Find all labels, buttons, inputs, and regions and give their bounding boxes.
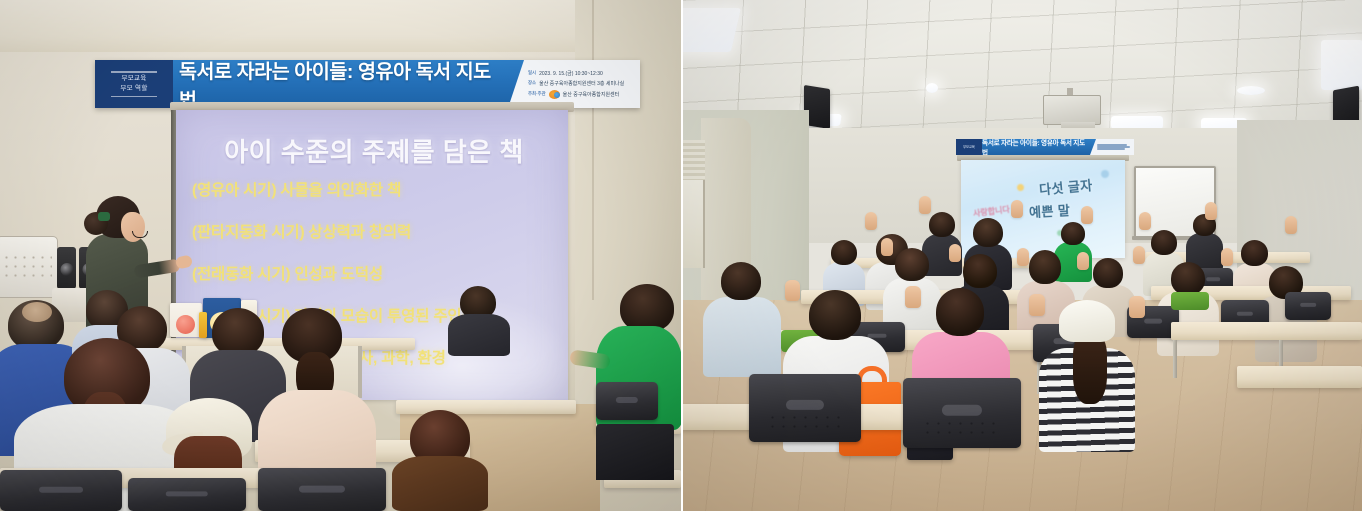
speaker-icon-left (57, 247, 76, 289)
photo-collage: 부모교육 부모 역할 독서로 자라는 아이들: 영유아 독서 지도법 일시 20… (0, 0, 1362, 511)
window-blind (681, 140, 705, 180)
collage-divider (681, 0, 683, 511)
banner-info-row-date: 일시 2023. 9. 15.(금) 10:30~12:30 (528, 70, 635, 77)
chair-perforation (922, 419, 1002, 440)
av-cabinet-perforation (2, 253, 52, 279)
banner-info-row-place: 장소 울산 중구육아종합지원센터 3층 세미나실 (528, 80, 635, 87)
raised-hand (1285, 216, 1297, 234)
chair-handle-slot (616, 397, 638, 403)
raised-hand (1081, 206, 1093, 224)
ceiling-light-panel (1321, 40, 1362, 90)
av-cabinet (0, 236, 58, 298)
chair-back (128, 478, 246, 511)
raised-hand (1077, 252, 1089, 270)
ceiling-light-panel (681, 8, 741, 52)
attendee-brown-top (392, 456, 488, 511)
raised-hand (1011, 200, 1023, 218)
attendee-head (895, 248, 929, 281)
ceiling-downlight (1237, 86, 1265, 95)
right-photo-classroom: 부모교육 독서로 자라는 아이들: 영유아 독서 지도법 다섯 글자 예쁜 말 … (681, 0, 1362, 511)
slide-title: 아이 수준의 주제를 담은 책 (190, 132, 558, 169)
raised-hand (905, 286, 921, 308)
attendee-scalp (22, 302, 52, 322)
chair-handle-slot (1237, 312, 1253, 317)
chair-handle-slot (39, 486, 83, 493)
chair-perforation (767, 413, 843, 433)
speaker-cone (60, 263, 73, 276)
picture-book-apple (170, 303, 202, 337)
banner-title-small: 독서로 자라는 아이들: 영유아 독서 지도법 (982, 139, 1090, 155)
chair-back (596, 382, 658, 420)
banner-badge: 부모교육 부모 역할 (95, 60, 173, 108)
banner-badge-line-1: 부모교육 (121, 75, 146, 83)
attendee-torso (448, 314, 510, 356)
desk-row-mid (396, 400, 576, 414)
wall-seam-line (592, 0, 594, 300)
banner-info-line (1097, 148, 1125, 150)
attendee-head (973, 218, 1003, 247)
chair-back (258, 468, 386, 511)
raised-hand (1029, 294, 1045, 316)
presenter-hair-tie (98, 212, 110, 221)
attendee-ponytail (1073, 334, 1107, 404)
attendee-lap (596, 424, 674, 480)
chair-handle-slot (1300, 303, 1316, 307)
ceiling-projector (1043, 95, 1101, 125)
chair-handle-slot (942, 405, 982, 416)
banner-info-value-place: 울산 중구육아종합지원센터 3층 세미나실 (539, 80, 624, 87)
raised-hand (1129, 296, 1145, 318)
attendee-light-blue-top (703, 297, 781, 377)
attendee-head (831, 240, 857, 265)
chair-handle-slot (1144, 318, 1162, 323)
desk-row-front-right (1171, 322, 1362, 340)
raised-hand (919, 196, 931, 214)
slide-bullet-3: (전래동화 시기) 인성과 도덕성 (192, 262, 564, 284)
headset-microphone-icon (132, 231, 148, 238)
event-banner-small: 부모교육 독서로 자라는 아이들: 영유아 독서 지도법 (956, 139, 1134, 155)
chair-handle-slot (299, 485, 345, 492)
banner-info-block: 일시 2023. 9. 15.(금) 10:30~12:30 장소 울산 중구육… (508, 60, 640, 108)
chair-back (1285, 292, 1331, 320)
attendee-head (1151, 230, 1177, 255)
slide-handwriting-line-2: 예쁜 말 (1029, 198, 1110, 221)
slide-bullet-1: (영유아 시기) 사물을 의인화한 책 (192, 178, 564, 200)
picture-book-spine (199, 312, 207, 338)
desk-leg (1173, 340, 1177, 378)
slide-decoration-dot (1017, 184, 1024, 191)
banner-info-row-host: 주최·주관 울산 중구육아종합지원센터 (528, 90, 635, 99)
attendee-head (620, 284, 674, 332)
attendee-head (963, 254, 997, 288)
chair-handle-slot (786, 400, 824, 410)
attendee-white-cap (1059, 300, 1115, 342)
banner-badge-small: 부모교육 (956, 139, 982, 155)
raised-hand (1205, 202, 1217, 220)
banner-badge-line-2: 부모 역할 (120, 85, 147, 93)
banner-info-value-host: 울산 중구육아종합지원센터 (563, 91, 620, 98)
slide-handwriting-accent: 사랑합니다 (972, 204, 1010, 219)
attendee-head (929, 212, 955, 237)
raised-hand (1133, 246, 1145, 264)
event-banner: 부모교육 부모 역할 독서로 자라는 아이들: 영유아 독서 지도법 일시 20… (95, 60, 640, 108)
left-photo-lecture-hall: 부모교육 부모 역할 독서로 자라는 아이들: 영유아 독서 지도법 일시 20… (0, 0, 681, 511)
raised-hand (1139, 212, 1151, 230)
attendee-head (212, 308, 264, 356)
attendee-head (1061, 222, 1085, 245)
raised-hand (881, 238, 893, 256)
desk-right-foreground (1237, 366, 1362, 388)
slide-bullet-2: (판타지동화 시기) 상상력과 창의력 (192, 220, 564, 242)
banner-title: 독서로 자라는 아이들: 영유아 독서 지도법 (173, 60, 508, 108)
raised-hand (865, 212, 877, 230)
banner-info-key-date: 일시 (528, 70, 536, 76)
attendee-head (936, 288, 984, 336)
banner-info-value-date: 2023. 9. 15.(금) 10:30~12:30 (539, 70, 603, 77)
chair-handle-slot (1206, 277, 1220, 281)
attendee-head (1171, 262, 1205, 295)
attendee-head (1093, 258, 1123, 288)
raised-hand (785, 280, 800, 301)
chair-back (749, 374, 861, 442)
attendee-head (721, 262, 761, 300)
chair-back (0, 470, 122, 511)
raised-hand (949, 244, 961, 262)
chair-handle-slot (166, 491, 208, 496)
attendee-head (809, 290, 861, 340)
chair-back (903, 378, 1021, 448)
attendee-head (1029, 250, 1061, 284)
banner-info-key-host: 주최·주관 (528, 91, 546, 97)
ceiling-downlight (926, 83, 938, 93)
attendee-head (1241, 240, 1268, 266)
center-logo-icon (549, 90, 560, 99)
raised-hand (1017, 248, 1029, 266)
slide-decoration-dot (1101, 170, 1109, 178)
banner-info-small (1090, 139, 1134, 155)
raised-hand (1221, 248, 1233, 266)
green-chair (1171, 292, 1209, 310)
banner-info-key-place: 장소 (528, 80, 536, 86)
